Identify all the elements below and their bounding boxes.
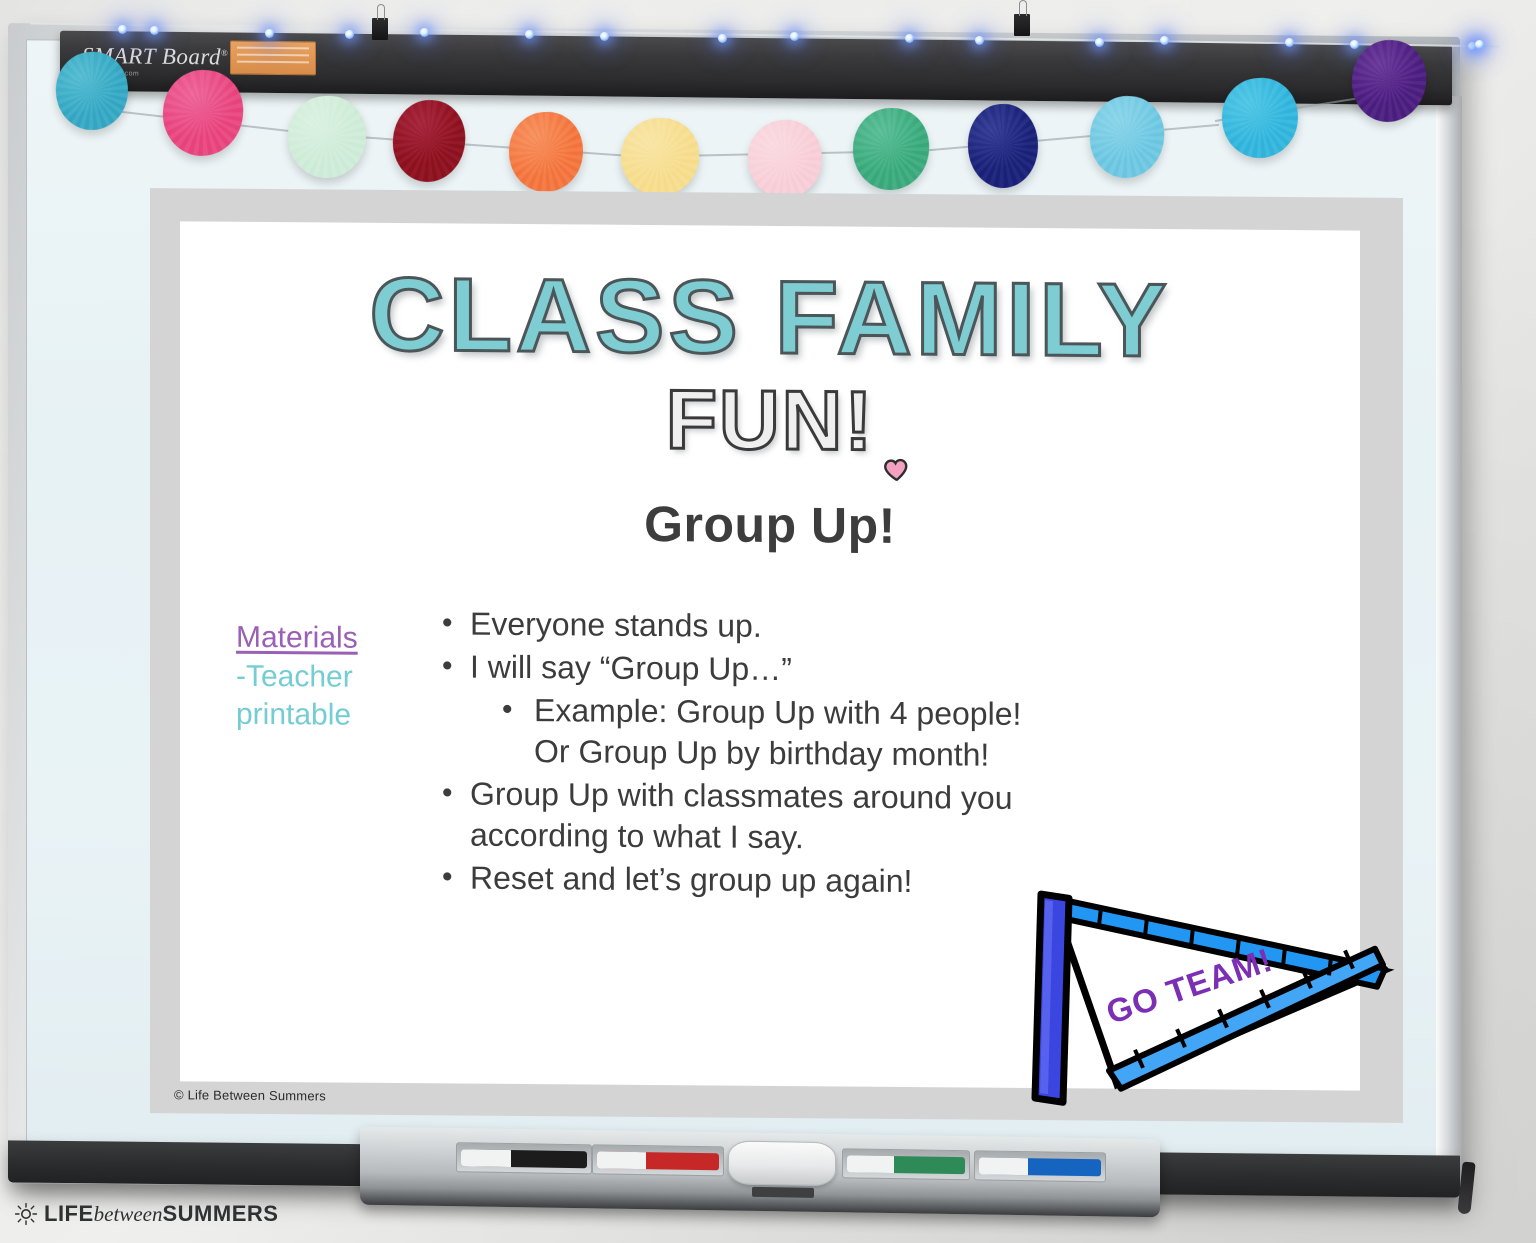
classroom-scene: SMART Board® smarttech.com © Life Betwee…	[0, 0, 1536, 1243]
slide-heading: Group Up!	[180, 491, 1360, 558]
watermark-part2: between	[94, 1202, 163, 1226]
sun-icon	[14, 1202, 38, 1226]
materials-block: Materials -Teacher printable	[236, 620, 426, 735]
board-right-rail	[1436, 96, 1462, 1187]
presentation-slide: CLASS FAMILY FUN! Group Up! Materials -T…	[180, 221, 1360, 1090]
pom-pink	[159, 67, 246, 160]
materials-item-1: printable	[236, 697, 426, 735]
pom-cyan	[1219, 75, 1300, 160]
garland-string	[920, 124, 1219, 152]
marker-blue[interactable]	[979, 1157, 1101, 1176]
pom-teal	[53, 50, 130, 133]
garland-string	[330, 134, 629, 156]
slide-title-main: CLASS FAMILY	[180, 261, 1360, 374]
slide-copyright: © Life Between Summers	[174, 1087, 326, 1103]
pom-darkred	[389, 96, 469, 185]
bullet-item-4: Reset and let’s group up again!	[438, 857, 1058, 903]
bullet-item-3: Group Up with classmates around you acco…	[438, 773, 1058, 860]
bullet-item-0: Everyone stands up.	[438, 603, 1058, 649]
bullet-item-2: Example: Group Up with 4 people! Or Grou…	[500, 690, 1058, 776]
marker-black[interactable]	[461, 1149, 587, 1168]
marker-tray	[360, 1127, 1160, 1218]
slide-frame: © Life Between Summers CLASS FAMILY FUN!…	[150, 188, 1403, 1123]
eraser[interactable]	[728, 1140, 836, 1186]
watermark-part3: SUMMERS	[162, 1201, 278, 1226]
pom-lightpink	[745, 117, 826, 201]
marker-slot-green[interactable]	[842, 1148, 970, 1180]
marker-red[interactable]	[597, 1151, 719, 1170]
tray-buttons[interactable]	[752, 1187, 814, 1198]
watermark-text: LIFEbetweenSUMMERS	[44, 1201, 278, 1227]
pom-mint	[286, 94, 368, 180]
materials-title: Materials	[236, 620, 426, 658]
watermark-part1: LIFE	[44, 1201, 94, 1226]
pom-orange	[508, 111, 585, 194]
marker-slot-black[interactable]	[456, 1142, 592, 1174]
pom-yellow	[618, 115, 701, 198]
pom-lightblue	[1087, 93, 1168, 181]
pom-purple	[1348, 36, 1430, 125]
marker-green[interactable]	[847, 1155, 965, 1174]
bullet-item-1: I will say “Group Up…”	[438, 646, 1058, 692]
slide-title-sub: FUN!	[180, 373, 1360, 466]
pom-navy	[966, 102, 1040, 190]
materials-item-0: -Teacher	[236, 658, 426, 696]
pom-green	[851, 106, 931, 192]
marker-slot-blue[interactable]	[974, 1150, 1106, 1182]
pennant-flag-graphic: GO TEAM!	[1025, 888, 1395, 1106]
marker-slot-red[interactable]	[592, 1144, 724, 1176]
brand-watermark: LIFEbetweenSUMMERS	[14, 1201, 278, 1227]
instruction-bullet-list: Everyone stands up.I will say “Group Up……	[438, 603, 1058, 905]
heart-icon	[883, 458, 908, 481]
